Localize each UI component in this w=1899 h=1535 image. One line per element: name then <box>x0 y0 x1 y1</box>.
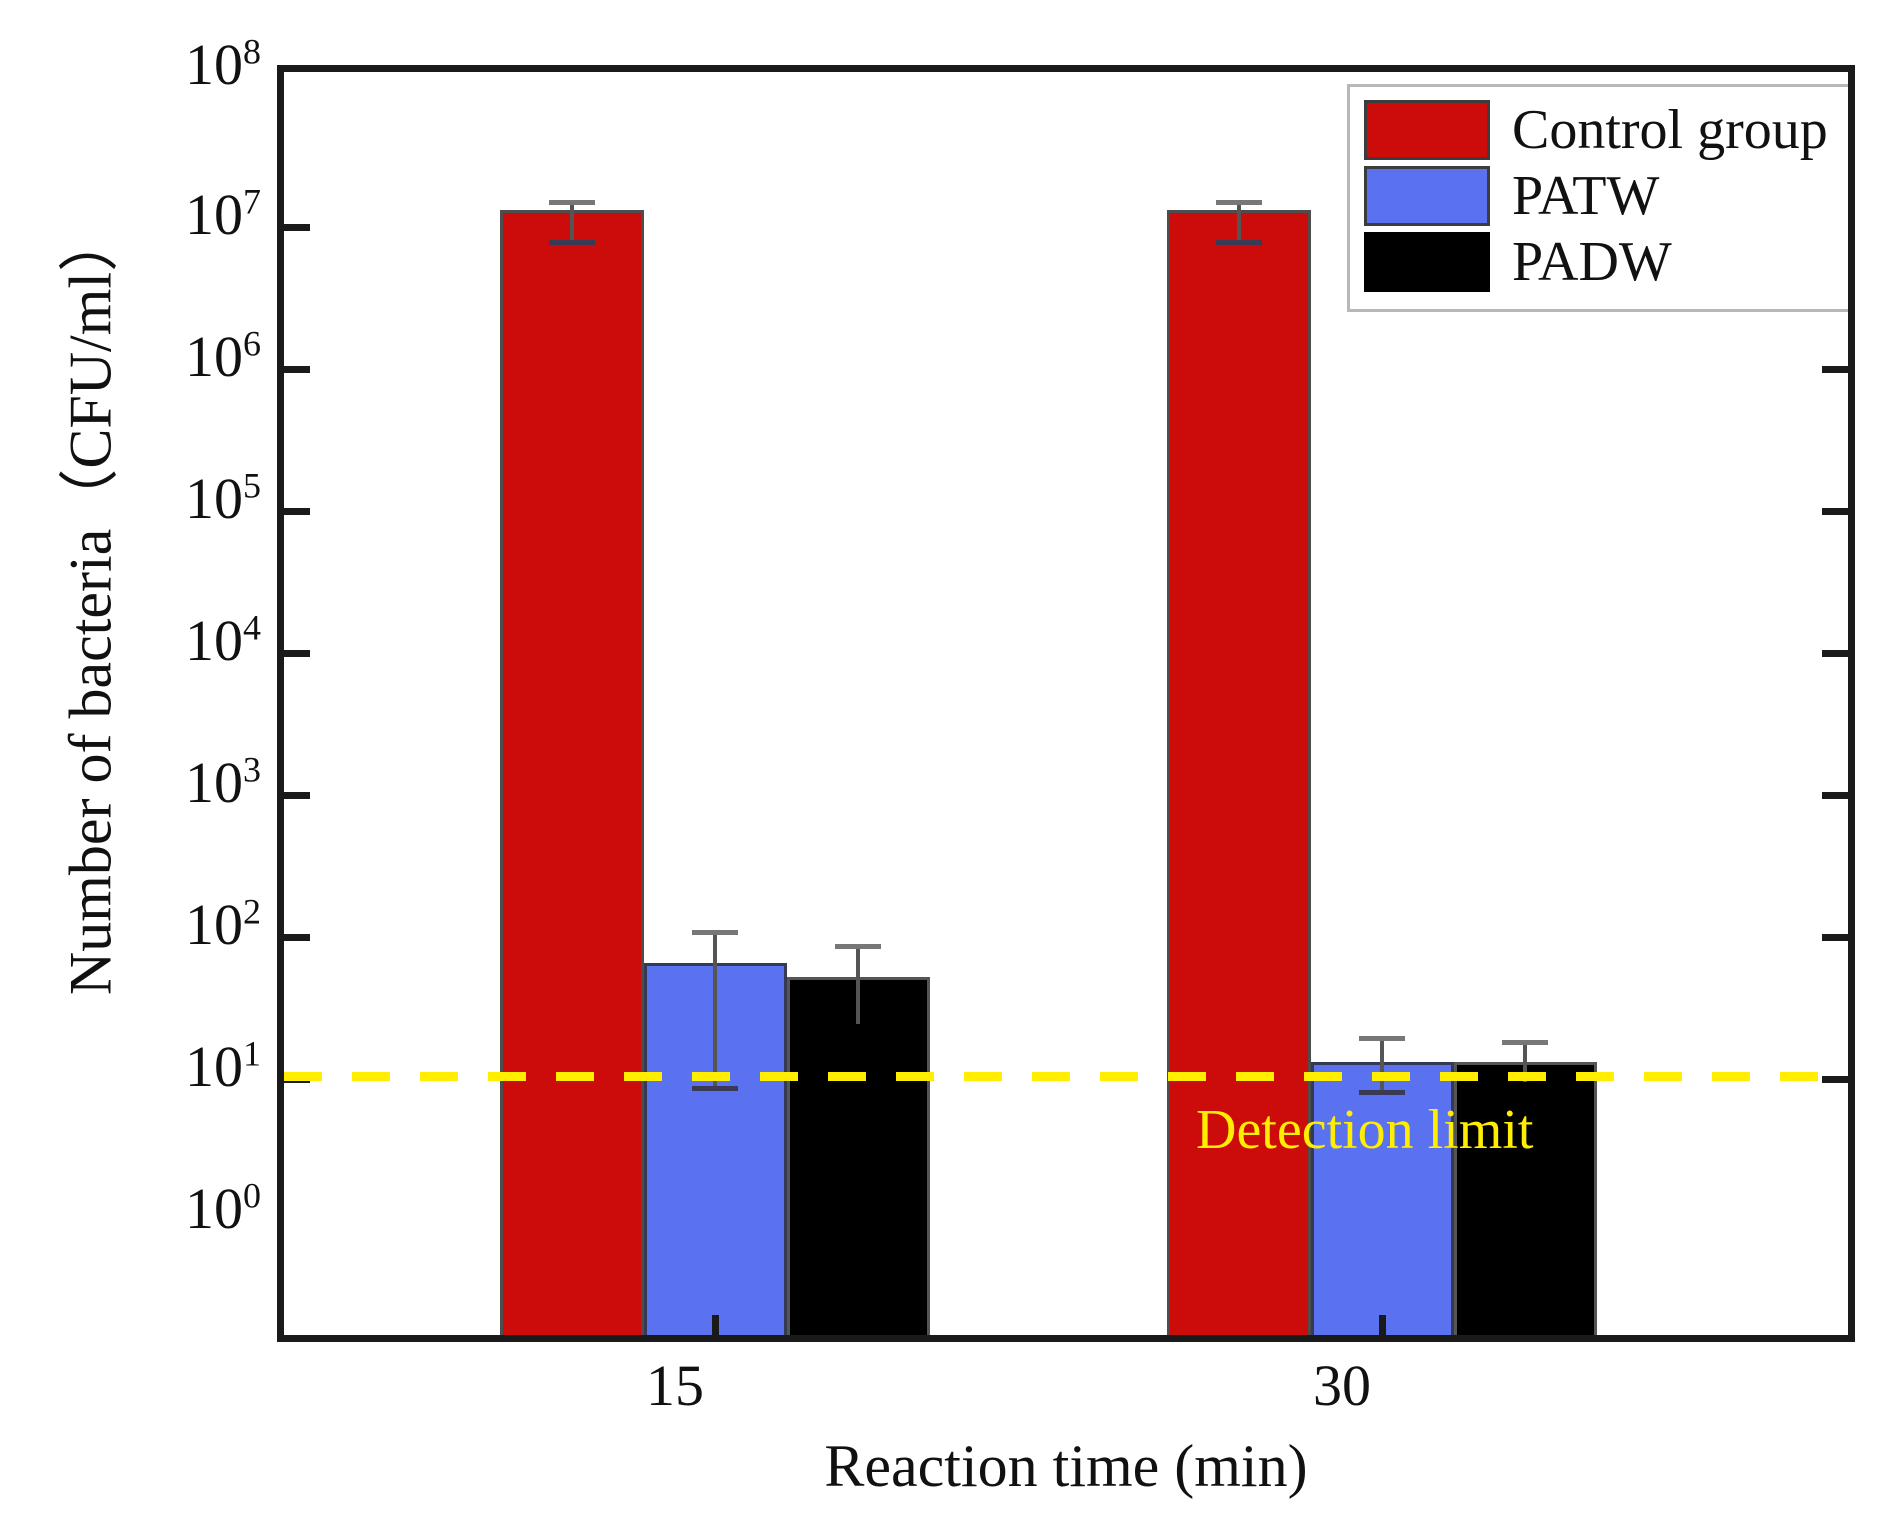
y-tick-mark-1e3 <box>284 792 310 799</box>
legend-label-padw: PADW <box>1512 234 1672 290</box>
bar-control-group-30[interactable] <box>1167 210 1311 1335</box>
bacteria-count-bar-chart: Number of bacteria（CFU/ml） 108 107 106 1… <box>0 0 1899 1535</box>
x-tick-mark-30 <box>1379 1315 1386 1335</box>
y-tick-label-1e6-text: 106 <box>185 324 261 389</box>
y-tick-label-1e7: 107 <box>1 186 261 244</box>
y-tick-label-1e5: 105 <box>1 470 261 528</box>
y-tick-label-1e5-text: 105 <box>185 466 261 531</box>
y-tick-label-1e2-text: 102 <box>185 892 261 957</box>
y-tick-mark-1e4 <box>284 650 310 657</box>
errorbar-cap-top-patw-15 <box>692 930 738 935</box>
x-tick-mark-15 <box>712 1315 719 1335</box>
errorbar-patw-15 <box>713 930 717 1090</box>
x-tick-label-30: 30 <box>1212 1352 1472 1419</box>
y-tick-mark-right-1e4 <box>1822 650 1848 657</box>
y-tick-label-1e3: 103 <box>1 754 261 812</box>
bar-padw-15[interactable] <box>787 977 930 1335</box>
y-tick-label-1e1-text: 101 <box>185 1034 261 1099</box>
legend-label-patw: PATW <box>1512 168 1659 224</box>
errorbar-cap-bottom-patw-15 <box>692 1086 738 1091</box>
y-tick-label-1e1: 101 <box>1 1038 261 1096</box>
legend-item-control-group[interactable]: Control group <box>1364 97 1835 163</box>
errorbar-cap-top-padw-15 <box>835 944 881 949</box>
y-tick-label-1e7-text: 107 <box>185 182 261 247</box>
x-axis-title: Reaction time (min) <box>277 1432 1855 1501</box>
y-tick-mark-right-1e5 <box>1822 508 1848 515</box>
y-tick-label-1e3-text: 103 <box>185 750 261 815</box>
y-tick-mark-right-1e2 <box>1822 934 1848 941</box>
y-tick-mark-1e5 <box>284 508 310 515</box>
detection-limit-label: Detection limit <box>1196 1102 1533 1158</box>
y-tick-mark-right-1e6 <box>1822 366 1848 373</box>
legend: Control group PATW PADW <box>1347 84 1852 312</box>
errorbar-control-group-15 <box>570 200 574 242</box>
errorbar-cap-top-control-group-30 <box>1216 200 1262 205</box>
y-tick-mark-1e2 <box>284 934 310 941</box>
plot-area: Detection limit Control group PATW PADW <box>277 65 1855 1342</box>
errorbar-cap-bottom-patw-30 <box>1359 1090 1405 1095</box>
y-tick-label-1e8: 108 <box>1 36 261 94</box>
errorbar-cap-top-padw-30 <box>1502 1040 1548 1045</box>
y-tick-mark-1e6 <box>284 366 310 373</box>
legend-item-padw[interactable]: PADW <box>1364 229 1835 295</box>
y-tick-label-1e2: 102 <box>1 896 261 954</box>
errorbar-cap-bottom-control-group-15 <box>549 240 595 245</box>
x-tick-label-15: 15 <box>545 1352 805 1419</box>
legend-swatch-control-group <box>1364 100 1490 160</box>
y-tick-label-1e0-text: 100 <box>185 1176 261 1241</box>
errorbar-padw-15 <box>856 944 860 1024</box>
errorbar-cap-top-control-group-15 <box>549 200 595 205</box>
errorbar-cap-top-patw-30 <box>1359 1036 1405 1041</box>
legend-swatch-padw <box>1364 232 1490 292</box>
y-tick-mark-1e7 <box>284 224 310 231</box>
legend-label-control-group: Control group <box>1512 102 1828 158</box>
y-tick-label-1e0: 100 <box>1 1180 261 1238</box>
y-tick-label-1e4-text: 104 <box>185 608 261 673</box>
y-tick-mark-right-1e3 <box>1822 792 1848 799</box>
errorbar-cap-bottom-control-group-30 <box>1216 240 1262 245</box>
y-tick-label-1e6: 106 <box>1 328 261 386</box>
legend-swatch-patw <box>1364 166 1490 226</box>
y-tick-label-1e4: 104 <box>1 612 261 670</box>
errorbar-control-group-30 <box>1237 200 1241 242</box>
detection-limit-line <box>284 1072 1848 1081</box>
errorbar-patw-30 <box>1380 1036 1384 1094</box>
legend-item-patw[interactable]: PATW <box>1364 163 1835 229</box>
y-tick-label-1e8-text: 108 <box>185 32 261 97</box>
bar-control-group-15[interactable] <box>500 210 644 1335</box>
